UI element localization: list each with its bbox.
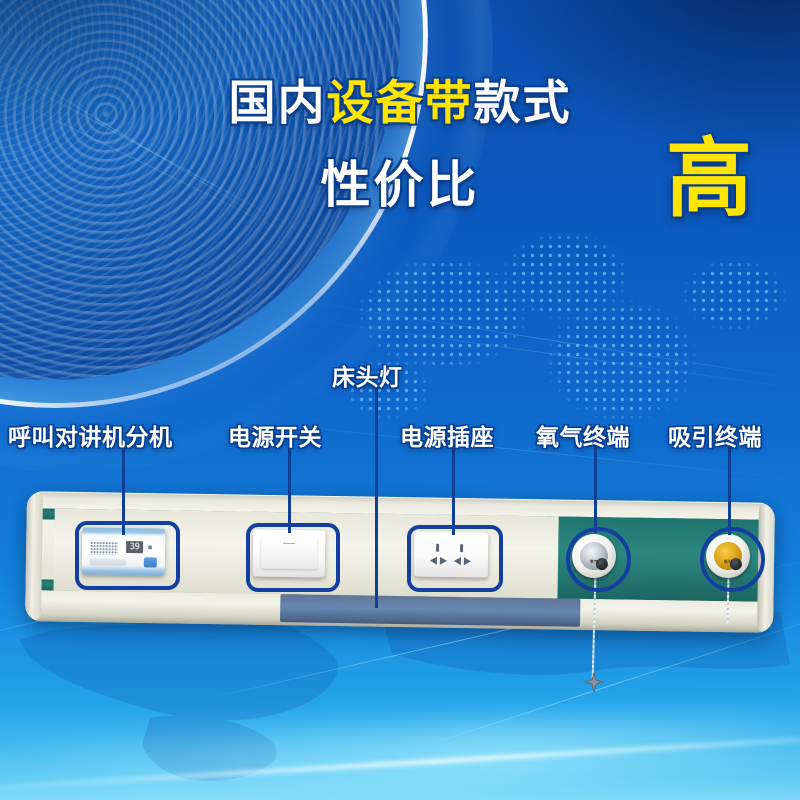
suction-terminal-inner: 吸引 xyxy=(714,542,742,570)
callout-label-socket: 电源插座 xyxy=(400,418,494,452)
power-light-switch[interactable] xyxy=(253,529,326,577)
socket-slot-3-icon xyxy=(454,557,461,565)
callout-label-bedlamp: 床头灯 xyxy=(332,358,403,392)
bed-lamp-diffuser xyxy=(280,594,580,627)
switch-rocker[interactable] xyxy=(261,538,317,570)
leader-line-socket xyxy=(452,443,455,535)
leader-line-suction xyxy=(728,443,731,535)
socket-slot-2-icon xyxy=(440,557,447,565)
socket-slot-4-icon xyxy=(464,557,471,565)
socket-slot-1-icon xyxy=(430,557,437,565)
panel-endcap-right xyxy=(757,503,775,633)
leader-line-bedlamp xyxy=(375,386,378,608)
leader-line-switch xyxy=(288,443,291,533)
callout-label-switch: 电源开关 xyxy=(228,418,322,452)
leader-line-intercom xyxy=(122,443,125,535)
callout-label-suction: 吸引终端 xyxy=(668,418,762,452)
oxygen-terminal-inner: 氧气 xyxy=(580,542,608,570)
oxygen-terminal-label: 氧气 xyxy=(590,559,598,565)
panel-endcap-left xyxy=(25,491,43,621)
power-socket-outlet[interactable] xyxy=(414,531,489,577)
light-streaks xyxy=(0,0,800,800)
intercom-display: 39 xyxy=(126,541,143,553)
socket-pin-right-a xyxy=(460,544,463,552)
switch-mark-icon xyxy=(283,543,295,544)
suction-terminal-label: 吸引 xyxy=(724,559,732,565)
callout-label-intercom: 呼叫对讲机分机 xyxy=(8,418,173,452)
socket-pin-left-a xyxy=(436,544,439,552)
pull-cord-handle-icon[interactable] xyxy=(583,672,605,694)
intercom-slot xyxy=(90,558,126,566)
product-banner: 国内设备带款式 性价比 高 呼叫对讲机分机 电源开关 床头灯 电源插座 氧气终端… xyxy=(0,0,800,800)
speaker-grille-icon xyxy=(90,541,118,554)
callout-label-oxygen: 氧气终端 xyxy=(536,418,630,452)
intercom-call-button[interactable] xyxy=(144,557,157,567)
leader-line-oxygen xyxy=(594,443,597,533)
status-led-icon xyxy=(148,545,152,549)
